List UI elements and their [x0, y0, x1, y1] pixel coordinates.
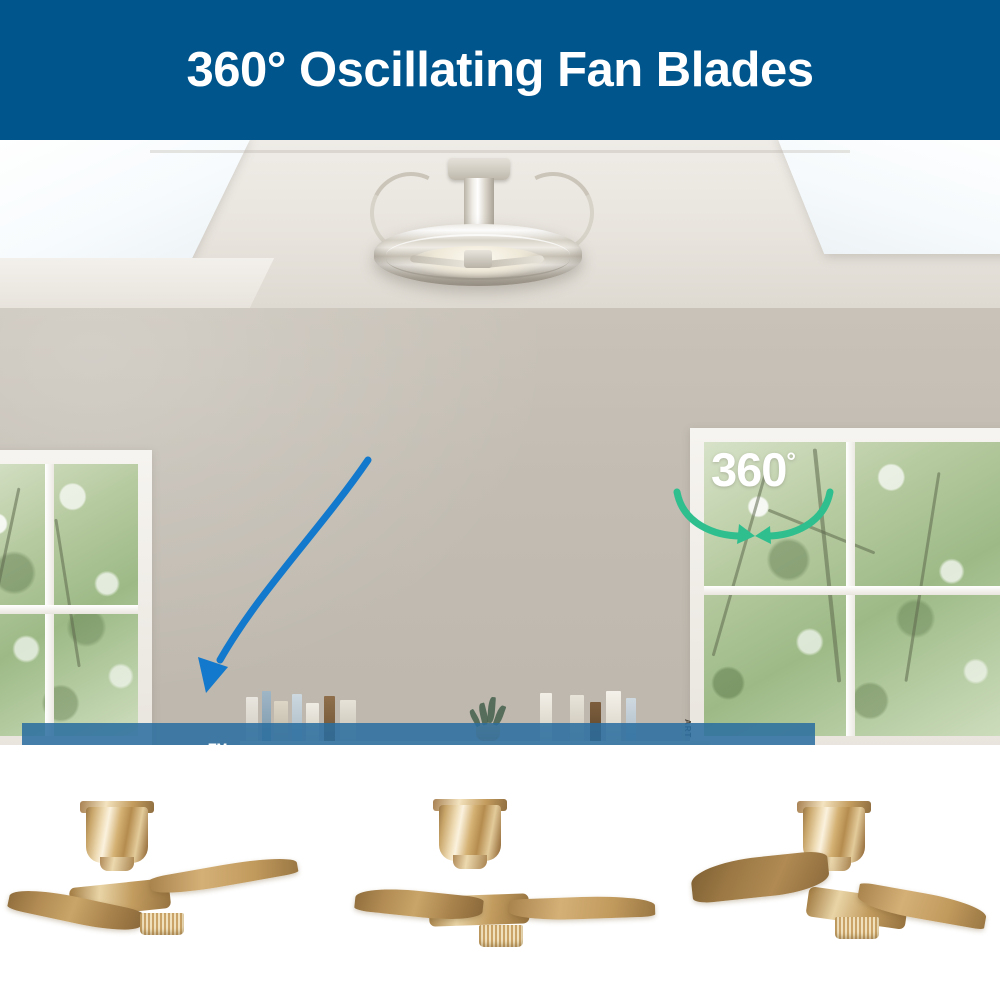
blade-knurl-nut — [835, 917, 879, 939]
motor-neck — [86, 807, 148, 863]
caption-box: The OSCILLARTM Series of ceiling fans fe… — [22, 723, 815, 745]
blade-knurl-nut — [140, 913, 184, 935]
fan-blade — [509, 894, 656, 921]
blade-panel-1 — [0, 745, 333, 1000]
window-mullion-horizontal — [0, 605, 138, 614]
oscillation-arc-icon — [671, 486, 836, 544]
page-title: 360° Oscillating Fan Blades — [187, 46, 814, 95]
fan-blade — [354, 884, 484, 923]
window-mullion-vertical — [45, 464, 54, 736]
blade-panel-3 — [667, 745, 1000, 1000]
fan-canopy — [448, 158, 510, 180]
ceiling-seam — [150, 150, 850, 153]
window-left-glass — [0, 464, 138, 736]
blade-panel-2 — [333, 745, 666, 1000]
degree-symbol: ° — [786, 448, 795, 475]
blade-knurl-nut — [479, 925, 523, 947]
fan-motor-housing — [62, 757, 172, 872]
motor-cap — [100, 857, 134, 871]
motor-cap — [453, 855, 487, 869]
header-banner: 360° Oscillating Fan Blades — [0, 0, 1000, 140]
window-left — [0, 450, 152, 745]
fan-motor-housing — [415, 755, 525, 870]
blade-position-strip — [0, 745, 1000, 1000]
ceiling-fan-product — [352, 158, 604, 288]
motor-neck — [439, 805, 501, 861]
room-scene-photo: ART 360° — [0, 140, 1000, 745]
product-feature-graphic: 360° Oscillating Fan Blades — [0, 0, 1000, 1000]
fan-hub — [464, 250, 492, 268]
callout-arrow-icon — [170, 425, 430, 700]
360-degree-badge: 360° — [673, 446, 833, 542]
window-mullion-horizontal — [704, 586, 1000, 595]
